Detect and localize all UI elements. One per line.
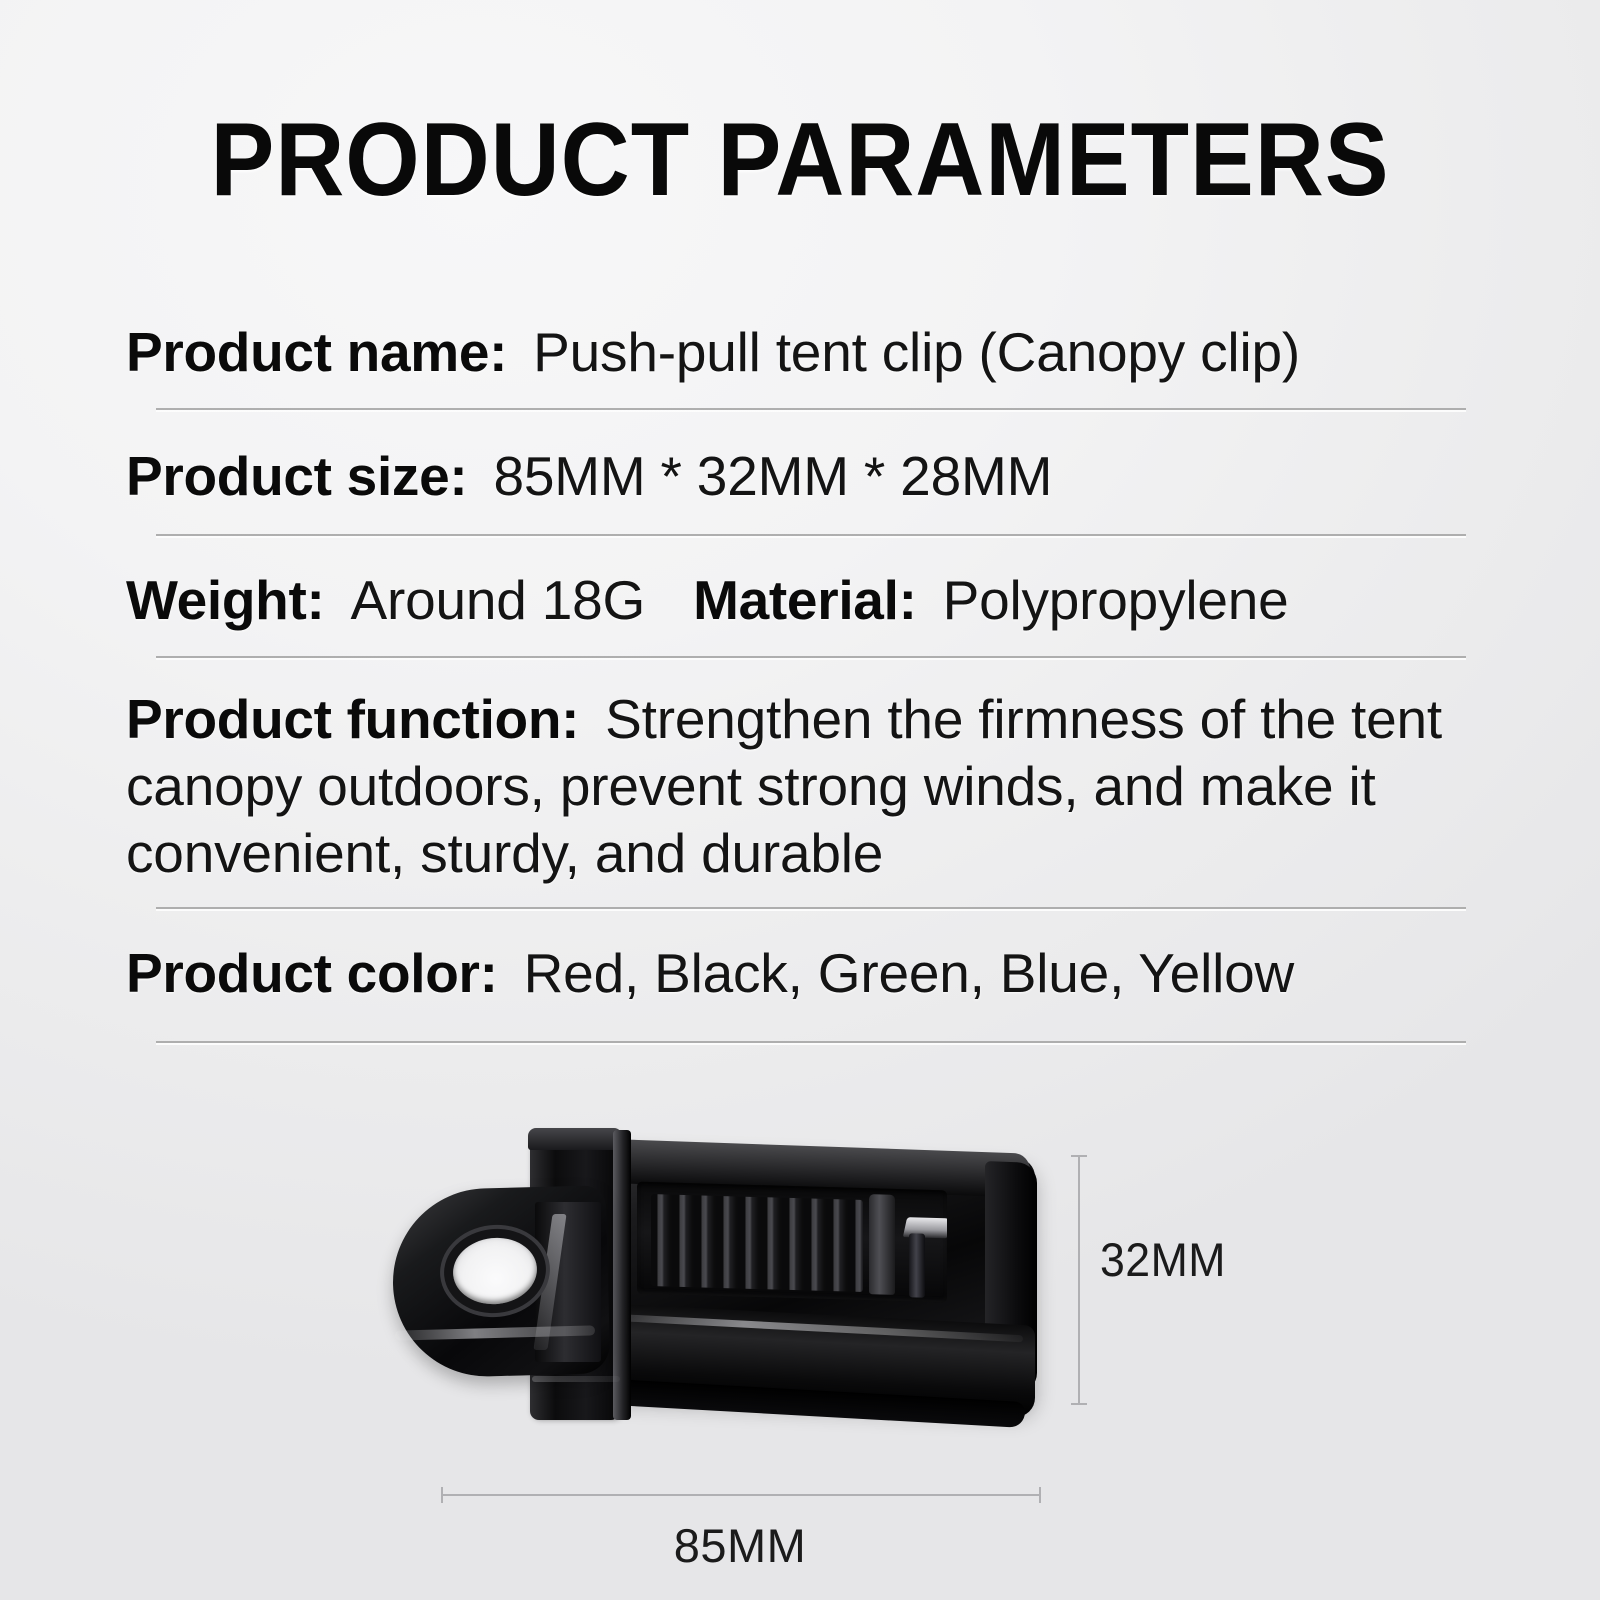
product-image-tent-clip <box>385 1128 1045 1428</box>
spec-label-product-color: Product color: <box>126 942 498 1004</box>
clip-rib-tall <box>869 1194 895 1295</box>
spec-value-product-size: 85MM * 32MM * 28MM <box>493 445 1052 507</box>
spec-row-product-color: Product color:Red, Black, Green, Blue, Y… <box>126 911 1476 1041</box>
spec-value-product-name: Push-pull tent clip (Canopy clip) <box>533 321 1300 383</box>
spec-value-weight: Around 18G <box>351 569 646 631</box>
dimension-line-vertical <box>1078 1155 1080 1405</box>
spec-label-product-name: Product name: <box>126 321 507 383</box>
spec-value-material: Polypropylene <box>943 569 1289 631</box>
clip-ribs <box>651 1194 863 1292</box>
dimension-line-horizontal <box>441 1494 1041 1496</box>
spec-value-product-color: Red, Black, Green, Blue, Yellow <box>524 942 1294 1004</box>
clip-rib-window <box>637 1182 947 1303</box>
spec-row-product-function: Product function:Strengthen the firmness… <box>126 660 1476 907</box>
divider <box>156 1041 1466 1045</box>
spec-label-weight: Weight: <box>126 569 325 631</box>
product-parameters-page: PRODUCT PARAMETERS Product name:Push-pul… <box>0 0 1600 1600</box>
spec-table: Product name:Push-pull tent clip (Canopy… <box>126 318 1476 1045</box>
clip-collar-cap <box>528 1128 622 1150</box>
dimension-label-width: 85MM <box>0 1518 1480 1573</box>
spec-row-product-name: Product name:Push-pull tent clip (Canopy… <box>126 318 1476 408</box>
spec-label-product-size: Product size: <box>126 445 467 507</box>
spec-row-weight-material: Weight:Around 18GMaterial:Polypropylene <box>126 538 1476 656</box>
clip-rib-post <box>909 1233 925 1297</box>
spec-row-product-size: Product size:85MM * 32MM * 28MM <box>126 412 1476 534</box>
clip-collar-seam <box>532 1376 620 1382</box>
spec-label-material: Material: <box>693 569 916 631</box>
spec-label-product-function: Product function: <box>126 688 579 750</box>
dimension-label-height: 32MM <box>1100 1232 1226 1287</box>
page-title: PRODUCT PARAMETERS <box>64 108 1536 212</box>
